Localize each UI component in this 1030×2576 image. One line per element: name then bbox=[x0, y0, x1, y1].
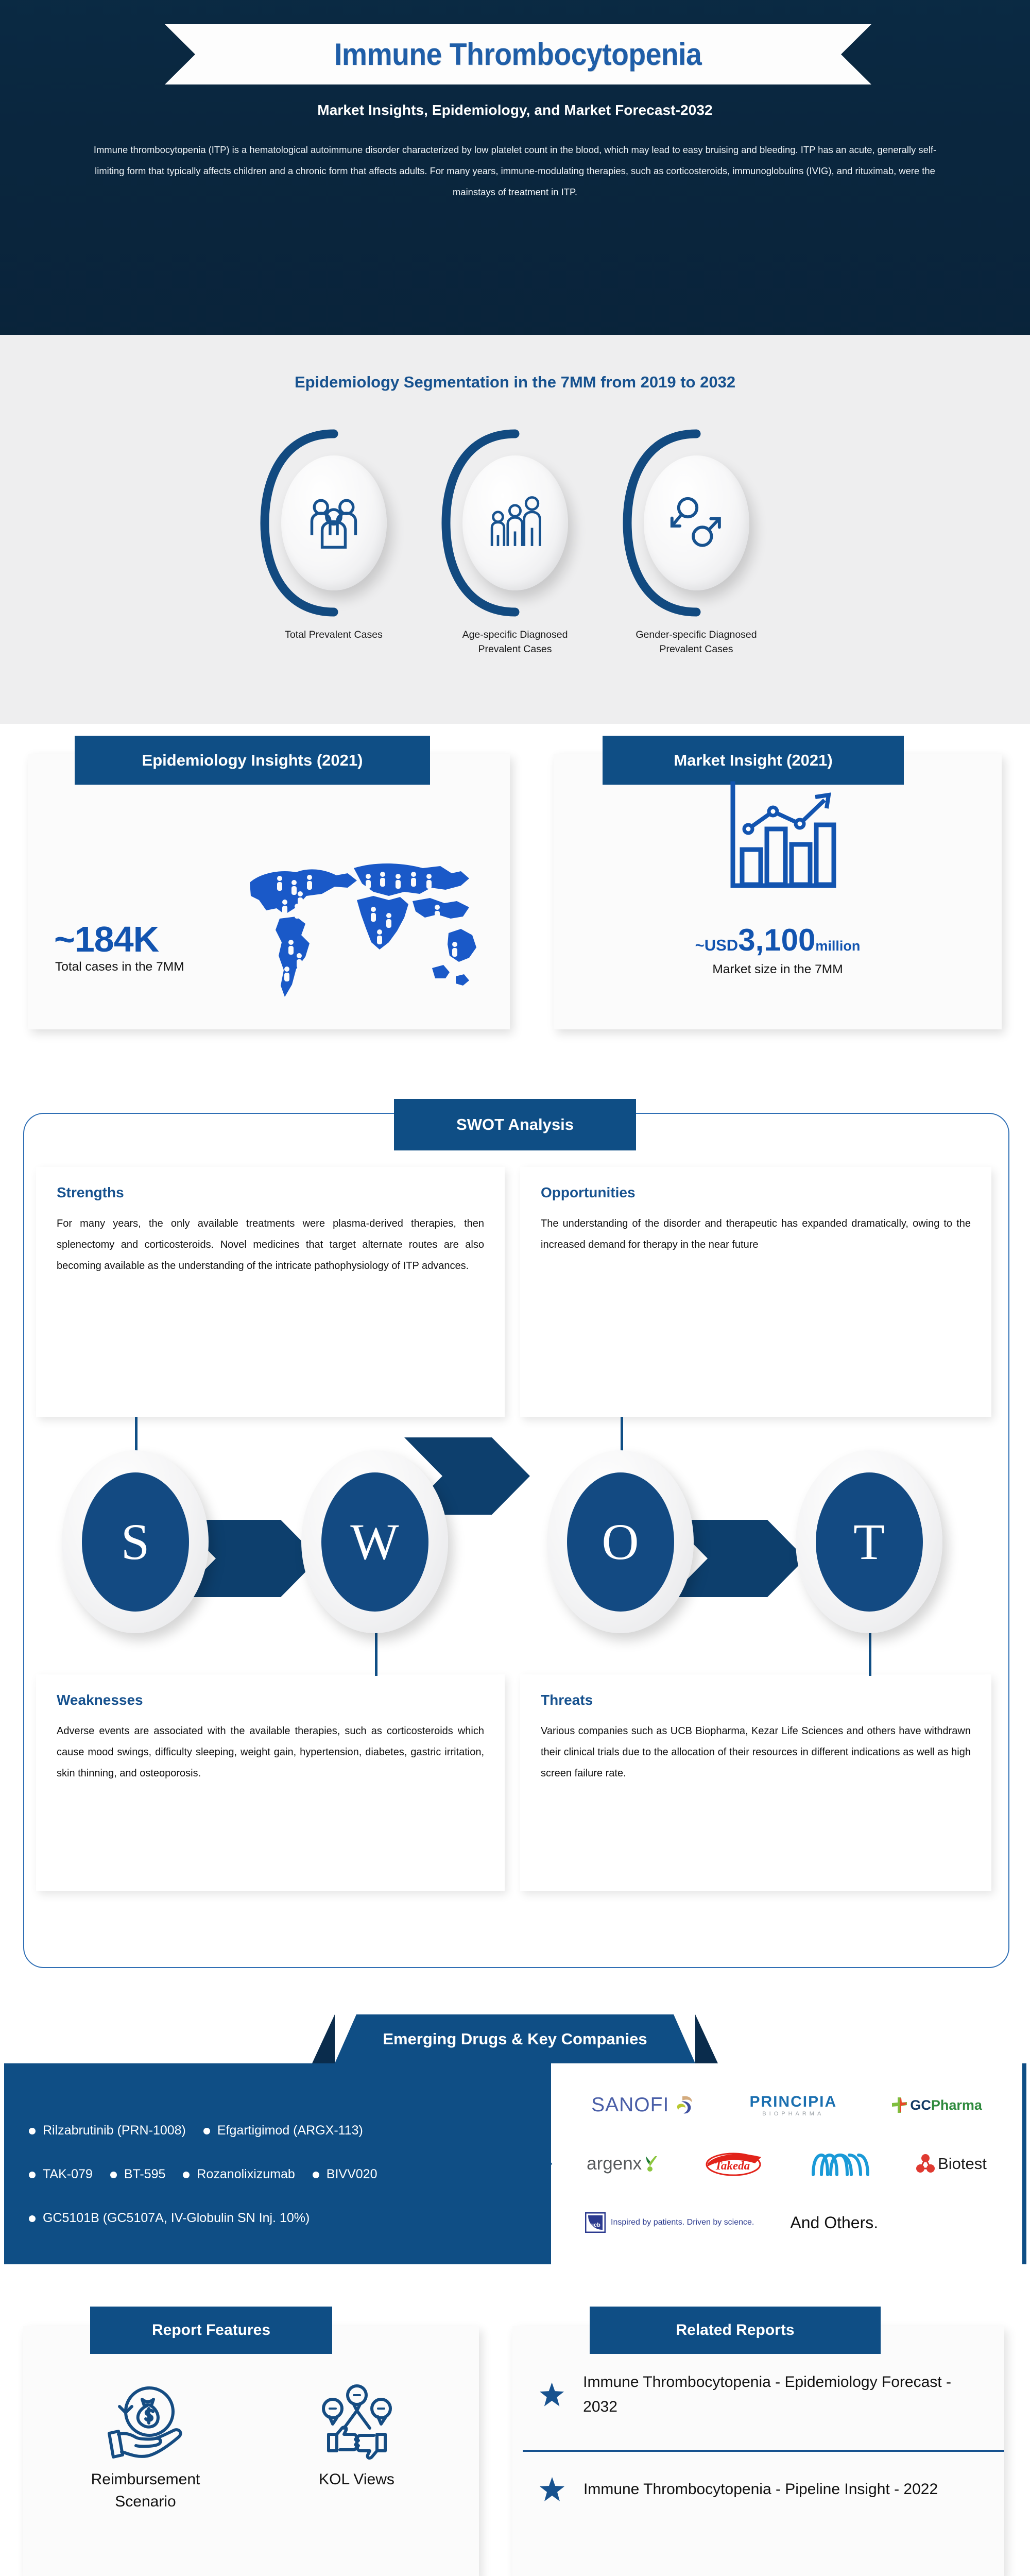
swot-letter-t: T bbox=[796, 1450, 942, 1633]
epidemiology-insight-card: Epidemiology Insights (2021) bbox=[28, 754, 510, 1029]
report-features-section: Report Features bbox=[0, 2295, 1030, 2576]
logo-row: SANOFI PRINCIPIA BIOPHARMA bbox=[564, 2080, 1009, 2130]
swot-threats-heading: Threats bbox=[541, 1692, 971, 1708]
gc-pharma-logo: GCPharma bbox=[890, 2096, 982, 2114]
market-card-heading: Market Insight (2021) bbox=[603, 736, 904, 785]
tab-wing-right bbox=[695, 2014, 718, 2063]
swot-letter-label: O bbox=[567, 1472, 674, 1612]
bar-chart-growth-icon bbox=[724, 779, 842, 898]
market-value-number: 3,100 bbox=[738, 923, 815, 957]
drug-name: Rilzabrutinib (PRN-1008) bbox=[43, 2123, 186, 2138]
bullet-icon bbox=[29, 2172, 36, 2178]
swot-card-opportunities: Opportunities The understanding of the d… bbox=[520, 1167, 991, 1417]
swot-card-threats: Threats Various companies such as UCB Bi… bbox=[520, 1674, 991, 1891]
epidemiology-value: ~184K bbox=[54, 919, 159, 960]
tab-wing-left bbox=[312, 2014, 335, 2063]
swot-strengths-heading: Strengths bbox=[57, 1184, 484, 1201]
emerging-drug-list: Rilzabrutinib (PRN-1008)Efgartigimod (AR… bbox=[29, 2109, 544, 2240]
arrow-notch bbox=[528, 2134, 552, 2194]
report-feature-label: Reimbursement Scenario bbox=[68, 2468, 223, 2513]
market-value-unit: million bbox=[815, 938, 860, 954]
report-features-heading: Report Features bbox=[90, 2307, 332, 2354]
argenx-mark-icon bbox=[644, 2155, 659, 2173]
related-reports-divider bbox=[523, 2450, 1004, 2452]
report-features-items: Reimbursement Scenario bbox=[23, 2383, 479, 2513]
swot-threats-body: Various companies such as UCB Biopharma,… bbox=[541, 1721, 971, 1784]
related-report-title: Immune Thrombocytopenia - Epidemiology F… bbox=[583, 2370, 984, 2419]
drug-row: Rilzabrutinib (PRN-1008)Efgartigimod (AR… bbox=[29, 2109, 544, 2153]
swot-letter-label: S bbox=[82, 1472, 189, 1612]
biotest-logo: Biotest bbox=[915, 2154, 987, 2174]
swot-card-strengths: Strengths For many years, the only avail… bbox=[36, 1167, 505, 1417]
report-feature-label: KOL Views bbox=[319, 2468, 394, 2490]
epidemiology-card-heading: Epidemiology Insights (2021) bbox=[75, 736, 430, 785]
swot-letter-label: T bbox=[816, 1472, 923, 1612]
swot-weaknesses-heading: Weaknesses bbox=[57, 1692, 484, 1708]
segmentation-bubble bbox=[281, 455, 387, 590]
drug-row: GC5101B (GC5107A, IV-Globulin SN Inj. 10… bbox=[29, 2196, 544, 2240]
market-caption: Market size in the 7MM bbox=[554, 962, 1002, 977]
biotest-logo-text: Biotest bbox=[938, 2155, 987, 2173]
bullet-icon bbox=[29, 2128, 36, 2134]
swot-letters-row: S W O T bbox=[0, 1440, 1030, 1656]
takeda-logo: Takeda bbox=[703, 2150, 765, 2178]
segmentation-items: Total Prevalent Cases bbox=[0, 428, 1030, 656]
svg-text:ucb: ucb bbox=[590, 2222, 600, 2228]
ucb-logo: ucb Inspired by patients. Driven by scie… bbox=[585, 2212, 754, 2233]
bullet-icon bbox=[203, 2128, 210, 2134]
emerging-drugs-title: Emerging Drugs & Key Companies bbox=[335, 2014, 695, 2063]
swot-weaknesses-body: Adverse events are associated with the a… bbox=[57, 1721, 484, 1784]
ucb-mark-icon: ucb bbox=[585, 2212, 606, 2233]
epidemiology-segmentation-section: Epidemiology Segmentation in the 7MM fro… bbox=[0, 335, 1030, 724]
biotest-mark-icon bbox=[915, 2154, 936, 2174]
gc-pharma-mark-icon bbox=[890, 2096, 908, 2114]
gc-pharma-logo-text: GCPharma bbox=[910, 2097, 982, 2113]
kol-thumbs-icon bbox=[313, 2383, 401, 2460]
money-hand-icon bbox=[102, 2383, 190, 2460]
bullet-icon bbox=[183, 2172, 190, 2178]
segmentation-item-label: Total Prevalent Cases bbox=[267, 628, 401, 642]
swot-letter-o: O bbox=[547, 1450, 694, 1633]
related-reports-card: Related Reports Immune Thrombocytopenia … bbox=[512, 2326, 1004, 2576]
swot-card-weaknesses: Weaknesses Adverse events are associated… bbox=[36, 1674, 505, 1891]
svg-text:Takeda: Takeda bbox=[715, 2159, 750, 2172]
header-section: Immune Thrombocytopenia Market Insights,… bbox=[0, 0, 1030, 335]
drug-name: Rozanolixizumab bbox=[197, 2167, 295, 2181]
segmentation-item-label: Age-specific Diagnosed Prevalent Cases bbox=[448, 628, 582, 656]
key-companies-logos: SANOFI PRINCIPIA BIOPHARMA bbox=[551, 2063, 1022, 2264]
related-report-item[interactable]: Immune Thrombocytopenia - Pipeline Insig… bbox=[538, 2476, 984, 2503]
argenx-logo: argenx bbox=[587, 2154, 659, 2174]
page-subtitle: Market Insights, Epidemiology, and Marke… bbox=[0, 102, 1030, 118]
segmentation-bubble bbox=[644, 455, 749, 590]
principia-logo-text: PRINCIPIA bbox=[749, 2093, 837, 2111]
age-groups-icon bbox=[485, 493, 545, 553]
drug-name: BT-595 bbox=[124, 2167, 166, 2181]
market-value-prefix: ~USD bbox=[695, 936, 739, 954]
sanofi-logo: SANOFI bbox=[591, 2093, 696, 2117]
swot-opportunities-heading: Opportunities bbox=[541, 1184, 971, 1201]
momenta-logo bbox=[810, 2151, 871, 2177]
bullet-icon bbox=[313, 2172, 319, 2178]
drug-row: TAK-079BT-595RozanolixizumabBIVV020 bbox=[29, 2153, 544, 2196]
related-report-title: Immune Thrombocytopenia - Pipeline Insig… bbox=[583, 2477, 938, 2502]
logo-row: ucb Inspired by patients. Driven by scie… bbox=[564, 2198, 1009, 2247]
segmentation-bubble bbox=[462, 455, 568, 590]
market-insight-card: Market Insight (2021) ~USD3,1 bbox=[554, 754, 1002, 1029]
epidemiology-caption: Total cases in the 7MM bbox=[55, 960, 184, 974]
swot-letter-s: S bbox=[62, 1450, 209, 1633]
bullet-icon bbox=[29, 2215, 36, 2222]
report-feature-item: KOL Views bbox=[280, 2383, 434, 2513]
report-features-card: Report Features bbox=[23, 2326, 479, 2576]
takeda-mark-icon: Takeda bbox=[703, 2150, 765, 2178]
world-map-icon bbox=[219, 846, 497, 1016]
related-report-item[interactable]: Immune Thrombocytopenia - Epidemiology F… bbox=[538, 2370, 984, 2419]
swot-letter-w: W bbox=[301, 1450, 448, 1633]
segmentation-item: Total Prevalent Cases bbox=[251, 428, 416, 656]
sanofi-logo-text: SANOFI bbox=[591, 2094, 669, 2116]
sanofi-mark-icon bbox=[672, 2093, 696, 2117]
insight-cards-section: Epidemiology Insights (2021) bbox=[0, 724, 1030, 1084]
and-others-label: And Others. bbox=[790, 2213, 878, 2232]
argenx-logo-text: argenx bbox=[587, 2154, 642, 2174]
principia-biopharma-logo: PRINCIPIA BIOPHARMA bbox=[749, 2093, 837, 2117]
swot-section: SWOT Analysis Strengths For many years, … bbox=[0, 1084, 1030, 2007]
group-people-icon bbox=[303, 493, 364, 553]
emerging-drugs-section: Emerging Drugs & Key Companies Rilzabrut… bbox=[0, 2007, 1030, 2295]
drug-name: GC5101B (GC5107A, IV-Globulin SN Inj. 10… bbox=[43, 2211, 310, 2225]
page-title: Immune Thrombocytopenia bbox=[334, 37, 701, 72]
swot-letter-label: W bbox=[321, 1472, 428, 1612]
drug-name: BIVV020 bbox=[327, 2167, 377, 2181]
drug-name: Efgartigimod (ARGX-113) bbox=[217, 2123, 363, 2138]
segmentation-item: Age-specific Diagnosed Prevalent Cases bbox=[433, 428, 597, 656]
swot-opportunities-body: The understanding of the disorder and th… bbox=[541, 1213, 971, 1256]
intro-paragraph: Immune thrombocytopenia (ITP) is a hemat… bbox=[88, 139, 942, 202]
swot-strengths-body: For many years, the only available treat… bbox=[57, 1213, 484, 1277]
infographic-page: Immune Thrombocytopenia Market Insights,… bbox=[0, 0, 1030, 2576]
drug-name: TAK-079 bbox=[43, 2167, 93, 2181]
logo-row: argenx Takeda bbox=[564, 2139, 1009, 2189]
report-feature-item: Reimbursement Scenario bbox=[68, 2383, 223, 2513]
segmentation-item-label: Gender-specific Diagnosed Prevalent Case… bbox=[629, 628, 763, 656]
segmentation-title: Epidemiology Segmentation in the 7MM fro… bbox=[0, 373, 1030, 392]
momenta-mark-icon bbox=[810, 2151, 871, 2177]
gender-symbols-icon bbox=[666, 493, 727, 553]
market-value: ~USD3,100million bbox=[554, 922, 1002, 958]
title-ribbon: Immune Thrombocytopenia bbox=[165, 24, 871, 84]
principia-logo-subtext: BIOPHARMA bbox=[749, 2111, 837, 2117]
swot-title: SWOT Analysis bbox=[394, 1099, 636, 1150]
star-icon bbox=[538, 2476, 566, 2503]
ucb-tagline: Inspired by patients. Driven by science. bbox=[611, 2217, 754, 2228]
emerging-drugs-body: Rilzabrutinib (PRN-1008)Efgartigimod (AR… bbox=[4, 2063, 1026, 2264]
related-reports-heading: Related Reports bbox=[590, 2307, 881, 2354]
bullet-icon bbox=[110, 2172, 117, 2178]
star-icon bbox=[538, 2381, 565, 2409]
segmentation-item: Gender-specific Diagnosed Prevalent Case… bbox=[614, 428, 779, 656]
